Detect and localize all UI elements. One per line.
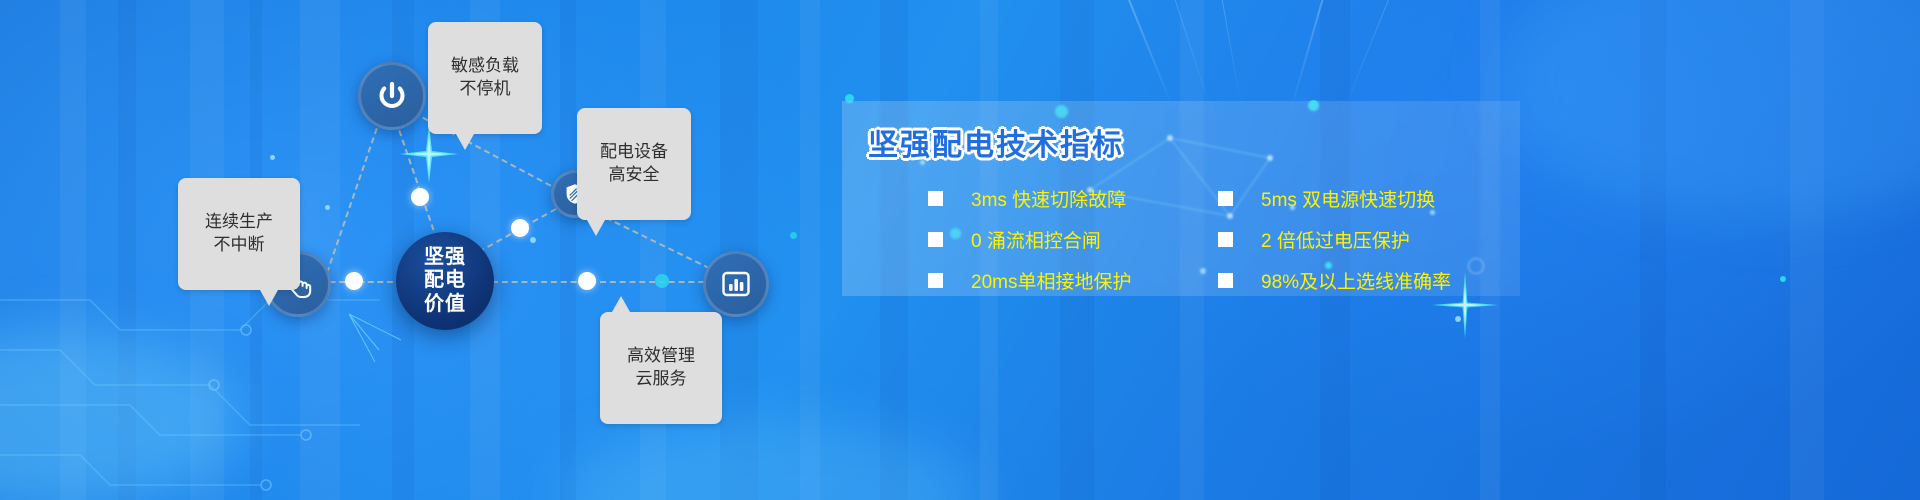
spec-item[interactable]: 3ms 快速切除故障 — [928, 178, 1218, 219]
spec-label: 3ms 快速切除故障 — [971, 185, 1126, 212]
connector-dot-3 — [345, 272, 363, 290]
callout-chart-label: 高效管理 云服务 — [627, 346, 695, 388]
sparkle-icon-2 — [345, 310, 405, 370]
spec-label: 20ms单相接地保护 — [971, 267, 1131, 294]
bullet-icon — [1218, 232, 1233, 247]
callout-shield-label: 配电设备 高安全 — [600, 142, 668, 184]
power-icon — [375, 79, 409, 113]
connector-dot-5 — [655, 274, 669, 288]
bar-chart-icon — [720, 268, 752, 300]
connector-dot-2 — [511, 219, 529, 237]
glow-right — [1500, 0, 1920, 220]
spec-item[interactable]: 20ms单相接地保护 — [928, 260, 1218, 301]
node-power[interactable] — [358, 62, 426, 130]
callout-touch[interactable]: 连续生产 不中断 — [178, 178, 300, 290]
bullet-icon — [928, 232, 943, 247]
callout-touch-label: 连续生产 不中断 — [205, 212, 273, 254]
spec-grid: 3ms 快速切除故障 5ms 双电源快速切换 0 涌流相控合闸 2 倍低过电压保… — [928, 178, 1508, 301]
banner-root: 坚强 配电 价值 — [0, 0, 1920, 500]
bullet-icon — [928, 273, 943, 288]
callout-tail — [260, 290, 278, 306]
spec-item[interactable]: 2 倍低过电压保护 — [1218, 219, 1508, 260]
bullet-icon — [928, 191, 943, 206]
bullet-icon — [1218, 273, 1233, 288]
connector-center-chart — [492, 281, 714, 283]
center-node-value[interactable]: 坚强 配电 价值 — [396, 232, 494, 330]
callout-shield[interactable]: 配电设备 高安全 — [577, 108, 691, 220]
callout-tail — [612, 296, 630, 312]
callout-tail — [456, 134, 474, 150]
node-chart[interactable] — [703, 251, 769, 317]
callout-chart[interactable]: 高效管理 云服务 — [600, 312, 722, 424]
spec-item[interactable]: 5ms 双电源快速切换 — [1218, 178, 1508, 219]
spec-label: 0 涌流相控合闸 — [971, 226, 1101, 253]
callout-tail — [587, 220, 605, 236]
connector-dot-1 — [411, 188, 429, 206]
spec-item[interactable]: 98%及以上选线准确率 — [1218, 260, 1508, 301]
spec-label: 5ms 双电源快速切换 — [1261, 185, 1435, 212]
node-diagram: 坚强 配电 价值 — [0, 0, 860, 500]
spec-item[interactable]: 0 涌流相控合闸 — [928, 219, 1218, 260]
spec-label: 2 倍低过电压保护 — [1261, 226, 1410, 253]
panel-title: 坚强配电技术指标 — [868, 120, 1124, 164]
callout-power-label: 敏感负载 不停机 — [451, 56, 519, 98]
center-node-label: 坚强 配电 价值 — [424, 246, 466, 317]
bullet-icon — [1218, 191, 1233, 206]
callout-power[interactable]: 敏感负载 不停机 — [428, 22, 542, 134]
spec-label: 98%及以上选线准确率 — [1261, 267, 1451, 294]
connector-dot-4 — [578, 272, 596, 290]
